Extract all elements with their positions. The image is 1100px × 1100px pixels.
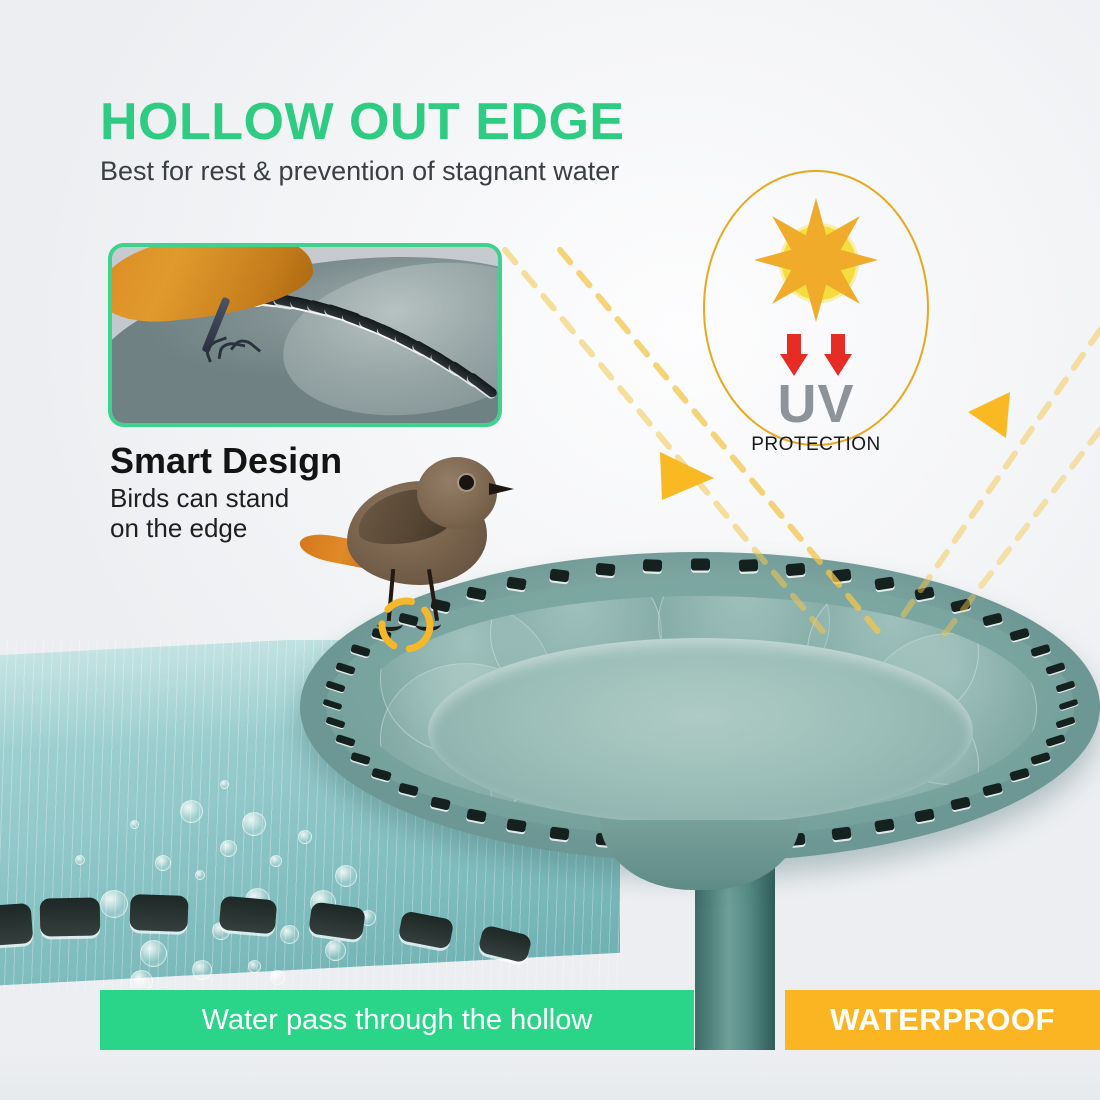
- hollow-slot: [40, 897, 101, 936]
- banner-water-pass: Water pass through the hollow: [100, 990, 694, 1050]
- feet-highlight-circle: [372, 596, 440, 654]
- bird-head: [417, 457, 497, 529]
- hollow-slot: [874, 576, 895, 590]
- hollow-slot: [1046, 662, 1066, 675]
- inset-detail-photo: [108, 243, 502, 427]
- uv-sublabel: PROTECTION: [705, 434, 927, 456]
- product-infographic: UV PROTECTION HOLLOW OUT EDGE Best for r…: [0, 0, 1100, 1100]
- water-droplet: [192, 960, 212, 980]
- hollow-slot: [326, 717, 346, 729]
- water-droplet: [280, 925, 299, 944]
- banner-waterproof: WATERPROOF: [785, 990, 1100, 1050]
- water-droplet: [195, 870, 205, 880]
- page-title: HOLLOW OUT EDGE: [100, 96, 625, 148]
- water-droplet: [130, 970, 153, 990]
- water-droplet: [155, 855, 171, 871]
- water-droplet: [220, 840, 237, 857]
- hollow-slot: [643, 559, 662, 572]
- callout-line-2: on the edge: [110, 514, 289, 544]
- hollow-slot: [831, 827, 851, 841]
- hollow-slot: [466, 808, 487, 822]
- hollow-slot: [739, 559, 758, 572]
- callout-subtitle: Birds can stand on the edge: [110, 484, 289, 544]
- hollow-slot: [982, 612, 1003, 626]
- red-down-arrow-icon: [780, 334, 808, 376]
- basin-underside: [600, 820, 800, 890]
- callout-title: Smart Design: [110, 440, 342, 482]
- uv-label: UV: [705, 377, 927, 431]
- hollow-slot: [1055, 680, 1075, 692]
- water-droplet: [220, 780, 229, 789]
- hollow-slot: [1009, 628, 1030, 642]
- callout-line-1: Birds can stand: [110, 484, 289, 514]
- hollow-slot: [326, 680, 346, 692]
- water-droplet: [242, 812, 266, 836]
- hollow-slot: [950, 796, 971, 810]
- water-droplet: [248, 960, 261, 973]
- water-droplet: [270, 970, 285, 985]
- water-droplet: [140, 940, 167, 967]
- red-down-arrow-icon: [824, 334, 852, 376]
- sun-icon: [754, 198, 878, 322]
- hollow-slot: [982, 783, 1003, 797]
- hollow-slot: [950, 598, 971, 612]
- hollow-slot: [1046, 734, 1066, 747]
- ray-arrowhead-right: [968, 392, 1010, 438]
- hollow-slot: [914, 808, 935, 822]
- water-droplet: [75, 855, 85, 865]
- hollow-slot: [506, 819, 527, 833]
- hollow-slot: [914, 586, 935, 600]
- hollow-slot: [219, 896, 278, 935]
- bottom-strip: [0, 1050, 1100, 1100]
- uv-protection-badge: UV PROTECTION: [703, 170, 929, 446]
- water-droplet: [325, 940, 346, 961]
- hollow-slot: [550, 568, 570, 582]
- hollow-slot: [831, 568, 851, 582]
- water-droplet: [130, 820, 139, 829]
- hollow-slot: [1009, 768, 1030, 782]
- hollow-slot: [874, 819, 895, 833]
- banner-waterproof-label: WATERPROOF: [785, 990, 1100, 1050]
- hollow-slot: [550, 827, 570, 841]
- hollow-slot: [1055, 717, 1075, 729]
- water-droplet: [100, 890, 128, 918]
- hollow-slot: [371, 768, 392, 782]
- hollow-slot: [335, 662, 355, 675]
- hollow-slot: [465, 371, 498, 399]
- hollow-slot: [430, 796, 451, 810]
- page-subtitle: Best for rest & prevention of stagnant w…: [100, 155, 619, 187]
- inset-bird-foot: [205, 340, 259, 366]
- hollow-slot: [1030, 751, 1051, 764]
- uv-down-arrows: [780, 334, 852, 376]
- hollow-slot: [691, 558, 710, 570]
- hollow-slot: [595, 563, 615, 576]
- hollow-slot: [350, 644, 371, 657]
- hollow-slot: [350, 751, 371, 764]
- hollow-slot: [0, 903, 33, 947]
- bird-beak: [489, 483, 514, 495]
- hollow-slot: [129, 894, 188, 932]
- hollow-slot: [1030, 644, 1051, 657]
- hollow-slot: [335, 734, 355, 747]
- hollow-slot: [786, 563, 806, 576]
- ray-arrowhead-left: [660, 452, 714, 500]
- water-droplet: [270, 855, 282, 867]
- water-droplet: [180, 800, 203, 823]
- hollow-slot: [323, 699, 343, 711]
- hollow-slot: [398, 783, 419, 797]
- hollow-slot: [1059, 699, 1079, 711]
- banner-water-pass-label: Water pass through the hollow: [100, 990, 694, 1050]
- bird-eye: [459, 475, 474, 490]
